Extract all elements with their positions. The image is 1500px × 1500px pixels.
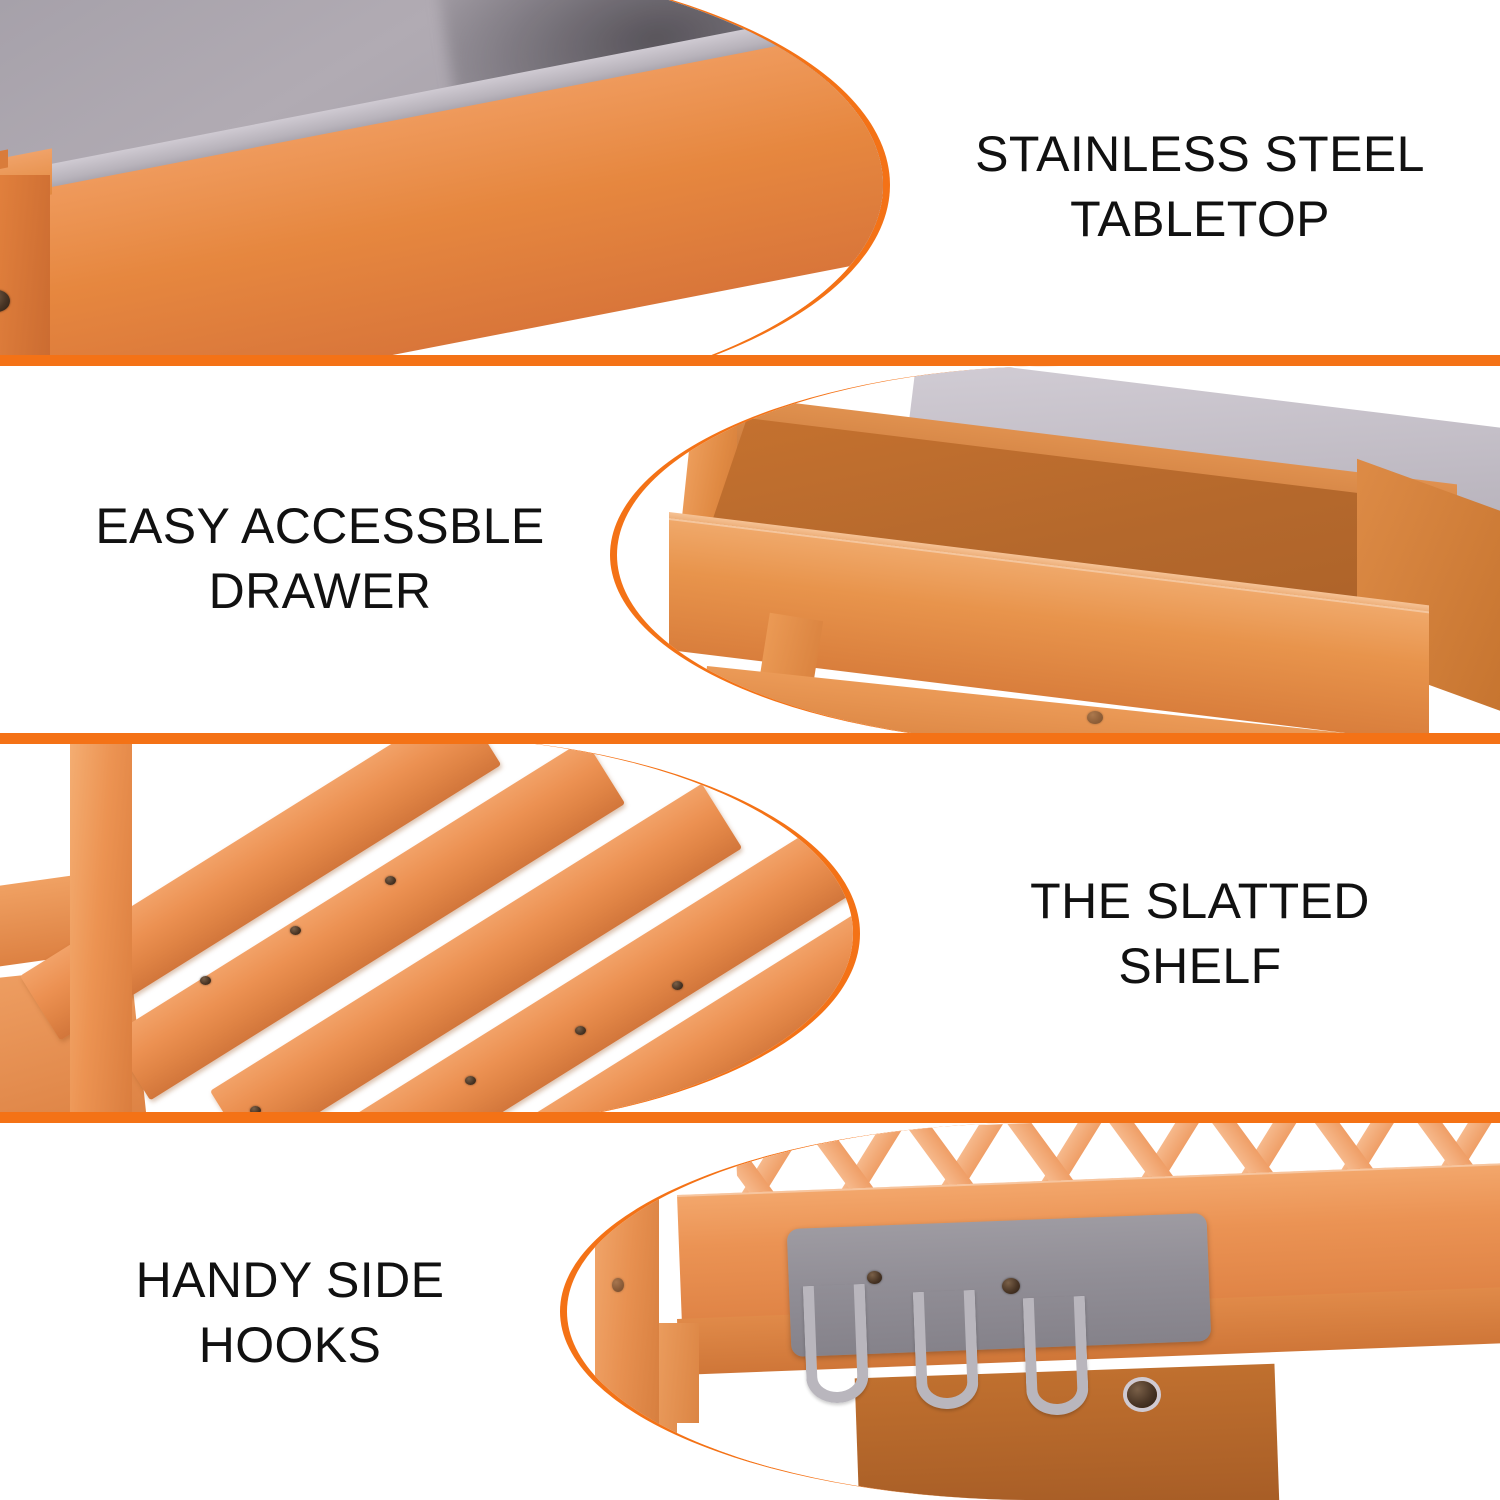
panel-stainless-steel-tabletop: STAINLESS STEEL TABLETOP <box>0 0 1500 366</box>
side-hook <box>803 1284 869 1404</box>
panel-the-slatted-shelf: THE SLATTED SHELF <box>0 744 1500 1123</box>
screw-head <box>672 981 683 990</box>
screw-head <box>1087 711 1103 724</box>
side-hook <box>913 1290 979 1410</box>
divider-3 <box>0 1112 1500 1123</box>
shelf-support-post <box>70 744 132 1123</box>
screw-head <box>290 926 301 935</box>
feature-infographic: STAINLESS STEEL TABLETOP EASY ACCESSBLE … <box>0 0 1500 1500</box>
divider-1 <box>0 355 1500 366</box>
screw-head <box>385 876 396 885</box>
divider-2 <box>0 733 1500 744</box>
screw-head <box>867 1271 882 1284</box>
panel-easy-accessble-drawer: EASY ACCESSBLE DRAWER <box>0 366 1500 744</box>
screw-head <box>1127 1381 1157 1408</box>
photo-easy-accessble-drawer <box>610 366 1500 744</box>
wood-leg <box>0 175 50 366</box>
corner-post <box>595 1123 659 1500</box>
caption-the-slatted-shelf: THE SLATTED SHELF <box>920 869 1480 999</box>
caption-stainless-steel-tabletop: STAINLESS STEEL TABLETOP <box>930 122 1470 252</box>
side-hook <box>1023 1296 1089 1416</box>
screw-head <box>575 1026 586 1035</box>
screw-head <box>1002 1278 1020 1294</box>
background-notch <box>677 1423 772 1500</box>
photo-the-slatted-shelf <box>0 744 860 1123</box>
photo-handy-side-hooks <box>560 1123 1500 1500</box>
caption-easy-accessble-drawer: EASY ACCESSBLE DRAWER <box>40 494 600 624</box>
panel-handy-side-hooks: HANDY SIDE HOOKS <box>0 1123 1500 1500</box>
screw-head <box>465 1076 476 1085</box>
screw-head <box>612 1278 624 1292</box>
caption-handy-side-hooks: HANDY SIDE HOOKS <box>30 1248 550 1378</box>
screw-head <box>200 976 211 985</box>
photo-stainless-steel-tabletop <box>0 0 890 366</box>
